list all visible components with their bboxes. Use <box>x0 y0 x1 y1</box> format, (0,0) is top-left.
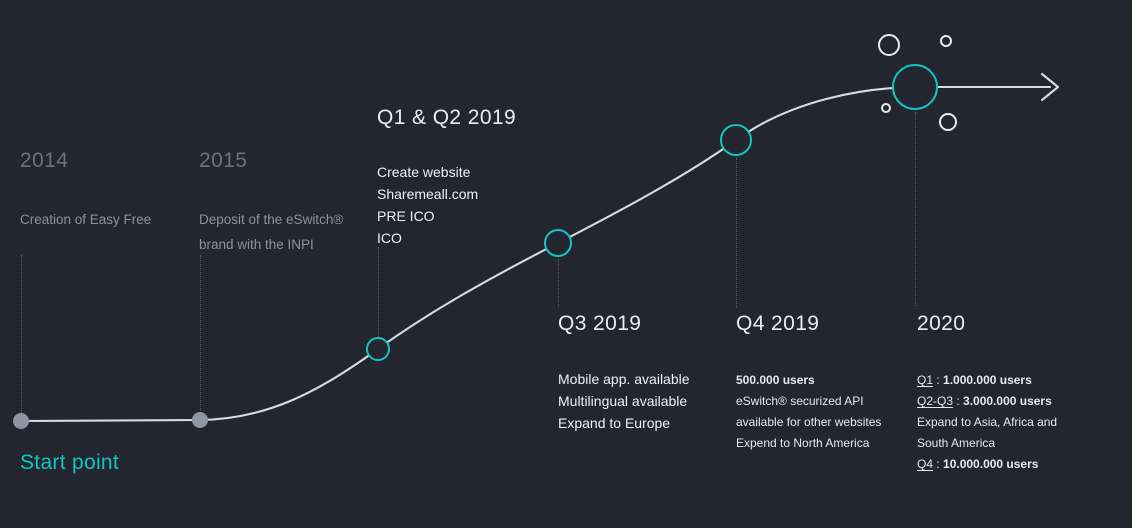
list-item: South America <box>917 433 1057 454</box>
milestone-2015-details: Deposit of the eSwitch® brand with the I… <box>199 207 343 257</box>
list-item: Expand to Europe <box>558 412 690 434</box>
node-q4-2019[interactable] <box>720 124 752 156</box>
list-item: available for other websites <box>736 412 881 433</box>
start-point-label: Start point <box>20 451 119 475</box>
milestone-q4-2019-year: Q4 2019 <box>736 313 881 334</box>
quarter-tag: Q1 <box>917 373 933 387</box>
node-start-2014[interactable] <box>13 413 29 429</box>
bubble-medium-lower-right-icon <box>939 113 957 131</box>
node-q3-2019[interactable] <box>544 229 572 257</box>
bubble-small-upper-right-icon <box>940 35 952 47</box>
list-item: Q4 : 10.000.000 users <box>917 454 1057 475</box>
list-item: Expand to Asia, Africa and <box>917 412 1057 433</box>
milestone-2015-year: 2015 <box>199 150 343 171</box>
milestone-2014-details: Creation of Easy Free <box>20 207 151 232</box>
node-q1q2-2019[interactable] <box>366 337 390 361</box>
milestone-q1q2-2019-year: Q1 & Q2 2019 <box>377 107 516 128</box>
milestone-2015: 2015 Deposit of the eSwitch® brand with … <box>199 150 343 257</box>
milestone-q3-2019-details: Mobile app. available Multilingual avail… <box>558 368 690 434</box>
dropper-q4-2019 <box>736 158 738 308</box>
list-item: Multilingual available <box>558 390 690 412</box>
bubble-large-upper-left-icon <box>878 34 900 56</box>
list-item: eSwitch® securized API <box>736 391 881 412</box>
list-item: PRE ICO <box>377 205 516 227</box>
dropper-q3-2019 <box>558 259 560 307</box>
dropper-q1q2-2019 <box>378 247 380 337</box>
milestone-q3-2019-year: Q3 2019 <box>558 313 690 334</box>
arrow-head-icon <box>1042 74 1058 100</box>
milestone-2014-year: 2014 <box>20 150 151 171</box>
milestone-q3-2019: Q3 2019 Mobile app. available Multilingu… <box>558 313 690 434</box>
node-2020[interactable] <box>892 64 938 110</box>
list-item: Deposit of the eSwitch® <box>199 207 343 232</box>
quarter-tag: Q2-Q3 <box>917 394 953 408</box>
milestone-2020: 2020 Q1 : 1.000.000 usersQ2-Q3 : 3.000.0… <box>917 313 1057 475</box>
list-item: 500.000 users <box>736 370 881 391</box>
milestone-q1q2-2019-details: Create website Sharemeall.com PRE ICO IC… <box>377 161 516 249</box>
list-item: Mobile app. available <box>558 368 690 390</box>
quarter-tag: Q4 <box>917 457 933 471</box>
milestone-q4-2019: Q4 2019 500.000 userseSwitch® securized … <box>736 313 881 454</box>
roadmap-infographic: Start point 2014 Creation of Easy Free 2… <box>0 0 1132 528</box>
list-item: Sharemeall.com <box>377 183 516 205</box>
list-item: Q1 : 1.000.000 users <box>917 370 1057 391</box>
list-item: Creation of Easy Free <box>20 207 151 232</box>
list-item: Q2-Q3 : 3.000.000 users <box>917 391 1057 412</box>
dropper-2015 <box>200 255 202 413</box>
list-item: Expend to North America <box>736 433 881 454</box>
milestone-2014: 2014 Creation of Easy Free <box>20 150 151 232</box>
milestone-2020-year: 2020 <box>917 313 1057 334</box>
milestone-q4-2019-details: 500.000 userseSwitch® securized APIavail… <box>736 370 881 454</box>
milestone-q1q2-2019: Q1 & Q2 2019 Create website Sharemeall.c… <box>377 107 516 249</box>
bubble-tiny-lower-left-icon <box>881 103 891 113</box>
list-item: ICO <box>377 227 516 249</box>
timeline-path <box>21 87 1050 421</box>
milestone-2020-details: Q1 : 1.000.000 usersQ2-Q3 : 3.000.000 us… <box>917 370 1057 475</box>
dropper-2014 <box>21 255 23 413</box>
list-item: brand with the INPI <box>199 232 343 257</box>
dropper-2020 <box>915 112 917 306</box>
list-item: Create website <box>377 161 516 183</box>
node-2015[interactable] <box>192 412 208 428</box>
